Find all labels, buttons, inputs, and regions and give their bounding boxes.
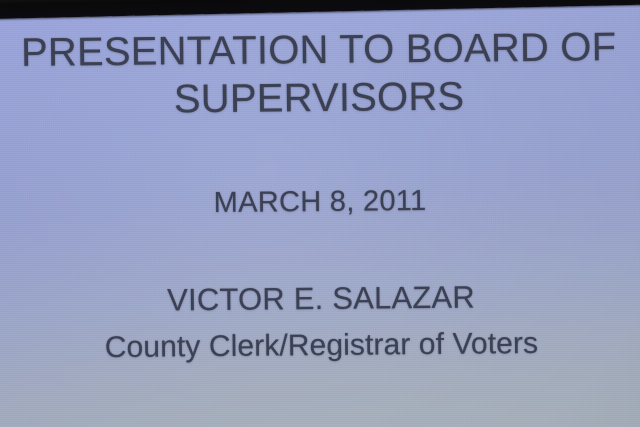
slide-text-block: PRESENTATION TO BOARD OF SUPERVISORS MAR… <box>0 0 640 427</box>
slide-title-line-2: SUPERVISORS <box>0 73 639 124</box>
presenter-role: County Clerk/Registrar of Voters <box>1 326 640 366</box>
presenter-name: VICTOR E. SALAZAR <box>1 278 640 320</box>
slide-title-line-1: PRESENTATION TO BOARD OF <box>0 25 639 76</box>
slide-date: MARCH 8, 2011 <box>0 183 640 222</box>
projected-slide-photo: PRESENTATION TO BOARD OF SUPERVISORS MAR… <box>0 0 640 427</box>
